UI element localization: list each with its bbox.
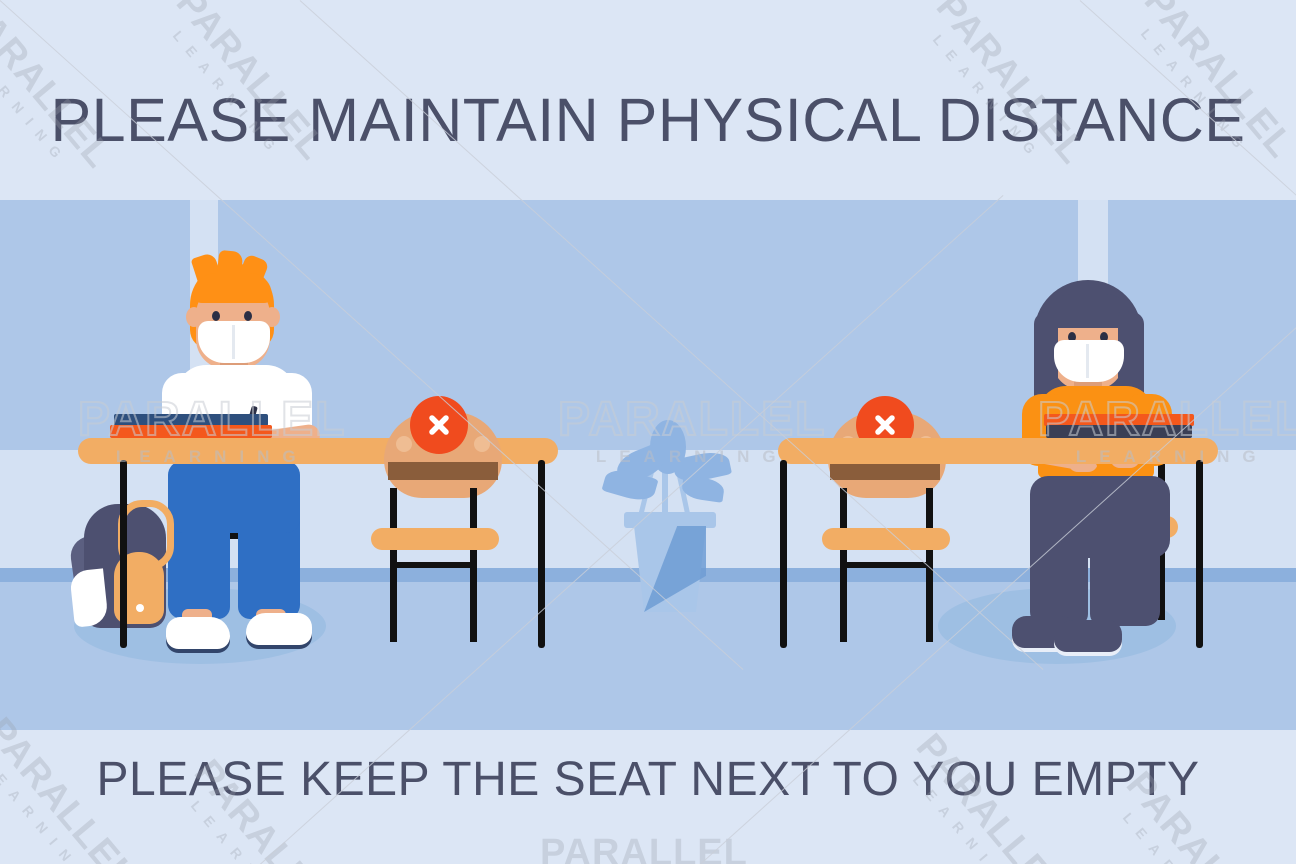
eye-left [212, 311, 220, 321]
desk-surface-right [778, 438, 1218, 464]
potted-plant [600, 420, 740, 580]
chair-backrest-shadow [388, 462, 498, 480]
chair-backrest-dot-left [396, 436, 412, 452]
mask-fold [1086, 344, 1089, 378]
hair-fringe [194, 273, 272, 303]
face-mask [1054, 340, 1124, 382]
poster-canvas: PLEASE MAINTAIN PHYSICAL DISTANCE PLEASE… [0, 0, 1296, 864]
page-title: PLEASE MAINTAIN PHYSICAL DISTANCE [0, 85, 1296, 155]
plant-pot-rim [624, 512, 716, 528]
book-stack-right [1044, 414, 1194, 438]
empty-chair-left[interactable] [368, 400, 568, 650]
desk-leg-right-back [780, 460, 787, 648]
desk-leg-left-front [120, 460, 127, 648]
desk-right [778, 438, 1218, 648]
chair-seat [371, 528, 499, 550]
eye-right [244, 311, 252, 321]
chair-crossbar [390, 562, 474, 568]
book-bottom [1046, 425, 1192, 438]
book-stack-left [110, 414, 272, 438]
chair-backrest-dot-right [474, 436, 490, 452]
page-subtitle: PLEASE KEEP THE SEAT NEXT TO YOU EMPTY [0, 752, 1296, 807]
no-sitting-badge[interactable] [410, 396, 468, 454]
plant-leaf-lower-right [681, 475, 726, 503]
mask-fold [232, 325, 235, 359]
book-bottom [110, 425, 272, 438]
desk-leg-right-front [1196, 460, 1203, 648]
